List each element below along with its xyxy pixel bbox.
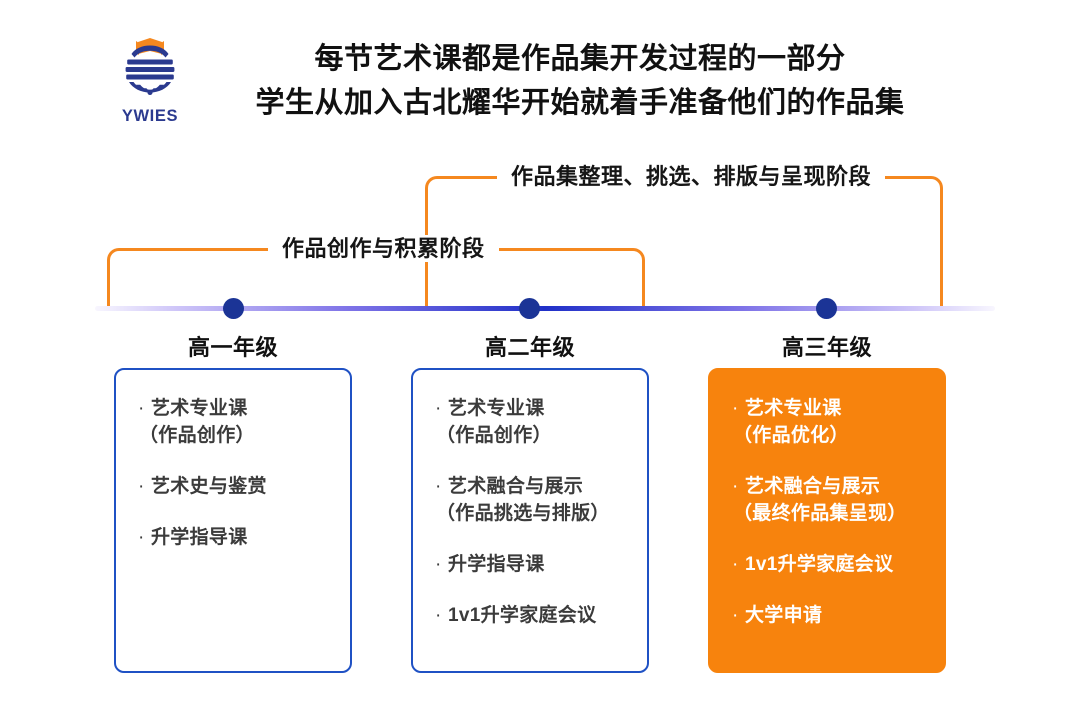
list-item: ·1v1升学家庭会议 [732,552,928,579]
list-item-label: 大学申请 [745,603,928,630]
list-item-sublabel: （最终作品集呈现） [733,501,928,528]
bullet-point-icon: · [435,552,448,579]
grade-12-card: · 艺术专业课（作品优化）·艺术融合与展示（最终作品集呈现）·1v1升学家庭会议… [708,368,946,673]
bracket-upper-label: 作品集整理、挑选、排版与呈现阶段 [497,163,885,190]
bullet-point-icon: · [435,396,448,423]
logo-wordmark: YWIES [122,107,178,126]
header: YWIES 每节艺术课都是作品集开发过程的一部分 学生从加入古北耀华开始就着手准… [0,28,1080,140]
bullet-point-icon: · [435,474,448,501]
list-item: ·艺术融合与展示（作品挑选与排版） [435,474,631,528]
list-item-label: 升学指导课 [151,525,334,552]
bracket-lower-label: 作品创作与积累阶段 [268,235,499,262]
list-item-sublabel: （作品创作） [436,423,631,450]
timeline-dot-grade-11 [519,298,540,319]
grade-10-card: ·艺术专业课（作品创作）·艺术史与鉴赏· 升学指导课 [114,368,352,673]
list-item: ·大学申请 [732,603,928,630]
list-item: · 升学指导课 [138,525,334,552]
bullet-point-icon: · [732,396,745,423]
bullet-point-icon: · [732,603,745,630]
timeline-dot-grade-12 [816,298,837,319]
list-item-label: 艺术专业课（作品创作） [448,396,631,450]
grade-label-12: 高三年级 [707,330,947,362]
list-item-label: 1v1升学家庭会议 [745,552,928,579]
grade-label-11: 高二年级 [410,330,650,362]
bullet-point-icon: · [732,552,745,579]
bullet-point-icon: · [138,525,151,552]
list-item-label: 艺术专业课（作品创作） [151,396,334,450]
infographic-page: YWIES 每节艺术课都是作品集开发过程的一部分 学生从加入古北耀华开始就着手准… [0,0,1080,720]
list-item-label: 艺术融合与展示（最终作品集呈现） [745,474,928,528]
list-item: · 艺术专业课（作品创作） [435,396,631,450]
globe-book-logo-icon [118,32,182,106]
bullet-point-icon: · [732,474,745,501]
list-item: · 艺术专业课（作品优化） [732,396,928,450]
ywies-logo: YWIES [113,32,187,136]
list-item: ·艺术史与鉴赏 [138,474,334,501]
list-item-label: 艺术专业课（作品优化） [745,396,928,450]
title-line-1: 每节艺术课都是作品集开发过程的一部分 [200,38,960,82]
grade-label-10: 高一年级 [113,330,353,362]
grade-11-card: · 艺术专业课（作品创作）·艺术融合与展示（作品挑选与排版）· 升学指导课·1v… [411,368,649,673]
list-item-sublabel: （作品创作） [139,423,334,450]
list-item: ·艺术融合与展示（最终作品集呈现） [732,474,928,528]
list-item: ·艺术专业课（作品创作） [138,396,334,450]
list-item-label: 1v1升学家庭会议 [448,603,631,630]
list-item-sublabel: （作品挑选与排版） [436,501,631,528]
title-line-2: 学生从加入古北耀华开始就着手准备他们的作品集 [200,82,960,126]
list-item-sublabel: （作品优化） [733,423,928,450]
list-item-label: 艺术融合与展示（作品挑选与排版） [448,474,631,528]
bullet-point-icon: · [138,396,151,423]
bullet-point-icon: · [435,603,448,630]
timeline-dot-grade-10 [223,298,244,319]
list-item-label: 艺术史与鉴赏 [151,474,334,501]
list-item: ·1v1升学家庭会议 [435,603,631,630]
list-item: · 升学指导课 [435,552,631,579]
bullet-point-icon: · [138,474,151,501]
page-title: 每节艺术课都是作品集开发过程的一部分 学生从加入古北耀华开始就着手准备他们的作品… [200,38,960,125]
list-item-label: 升学指导课 [448,552,631,579]
